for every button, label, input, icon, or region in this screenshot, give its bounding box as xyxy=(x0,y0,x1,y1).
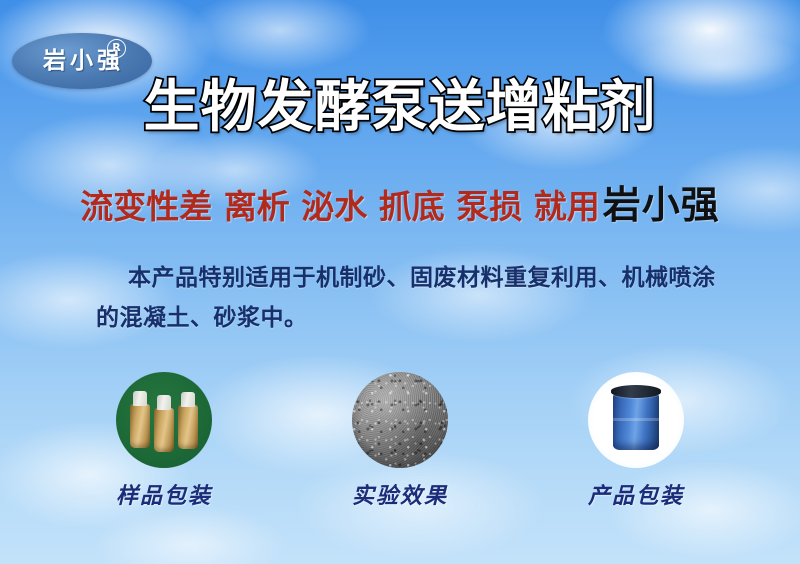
product-caption: 产品包装 xyxy=(588,478,684,510)
product-item-packaging[interactable]: 产品包装 xyxy=(561,372,711,510)
product-caption: 样品包装 xyxy=(116,478,212,510)
sample-bottles-icon xyxy=(116,372,212,468)
product-poster: 岩小强 R 生物发酵泵送增粘剂 流变性差 离析 泌水 抓底 泵损 就用岩小强 本… xyxy=(0,0,800,564)
page-title: 生物发酵泵送增粘剂 xyxy=(0,78,800,138)
body-copy: 本产品特别适用于机制砂、固废材料重复利用、机械喷涂的混凝土、砂浆中。 xyxy=(96,258,716,338)
mortar-sample-icon xyxy=(352,372,448,468)
tagline-problems: 流变性差 离析 泌水 抓底 泵损 就用 xyxy=(80,187,599,226)
blue-drum-icon xyxy=(588,372,684,468)
product-gallery: 样品包装 实验效果 产品包装 xyxy=(0,372,800,510)
tagline: 流变性差 离析 泌水 抓底 泵损 就用岩小强 xyxy=(0,186,800,224)
product-caption: 实验效果 xyxy=(352,478,448,510)
product-item-experiment[interactable]: 实验效果 xyxy=(325,372,475,510)
registered-trademark-icon: R xyxy=(107,39,126,58)
product-item-samples[interactable]: 样品包装 xyxy=(89,372,239,510)
tagline-brand: 岩小强 xyxy=(603,183,720,227)
